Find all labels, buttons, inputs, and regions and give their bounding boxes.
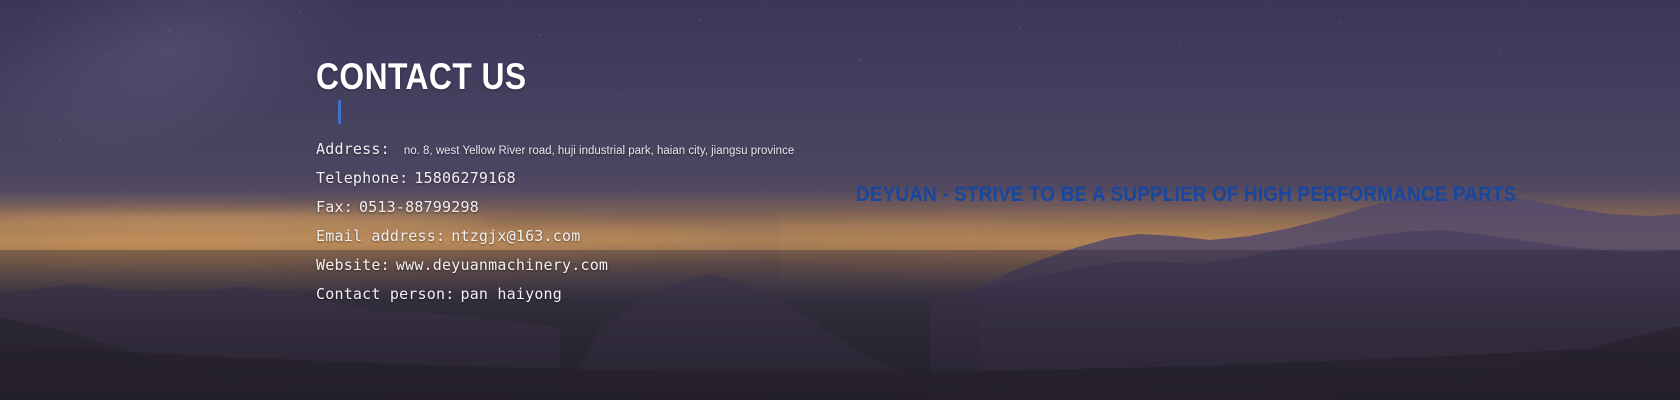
contact-row-email: Email address: ntzgjx@163.com: [316, 227, 794, 256]
contact-details-list: Address: no. 8, west Yellow River road, …: [316, 140, 794, 314]
contact-value-email[interactable]: ntzgjx@163.com: [451, 227, 580, 245]
contact-row-address: Address: no. 8, west Yellow River road, …: [316, 140, 794, 169]
contact-label-address: Address:: [316, 140, 390, 158]
contact-value-contact-person: pan haiyong: [460, 285, 562, 303]
contact-label-telephone: Telephone:: [316, 169, 408, 187]
contact-label-fax: Fax:: [316, 198, 353, 216]
contact-value-address: no. 8, west Yellow River road, huji indu…: [404, 145, 794, 157]
contact-row-contact-person: Contact person: pan haiyong: [316, 285, 794, 314]
contact-row-website: Website: www.deyuanmachinery.com: [316, 256, 794, 285]
contact-row-telephone: Telephone: 15806279168: [316, 169, 794, 198]
contact-value-website[interactable]: www.deyuanmachinery.com: [396, 256, 608, 274]
company-tagline: DEYUAN - STRIVE TO BE A SUPPLIER OF HIGH…: [856, 184, 1516, 205]
contact-banner: CONTACT US Address: no. 8, west Yellow R…: [0, 0, 1680, 400]
banner-content: CONTACT US Address: no. 8, west Yellow R…: [0, 0, 1680, 400]
contact-label-website: Website:: [316, 256, 390, 274]
contact-value-telephone[interactable]: 15806279168: [414, 169, 516, 187]
page-title: CONTACT US: [316, 58, 527, 95]
contact-label-email: Email address:: [316, 227, 445, 245]
title-accent-bar: [338, 100, 341, 124]
contact-label-contact-person: Contact person:: [316, 285, 454, 303]
contact-row-fax: Fax: 0513-88799298: [316, 198, 794, 227]
contact-value-fax: 0513-88799298: [359, 198, 479, 216]
